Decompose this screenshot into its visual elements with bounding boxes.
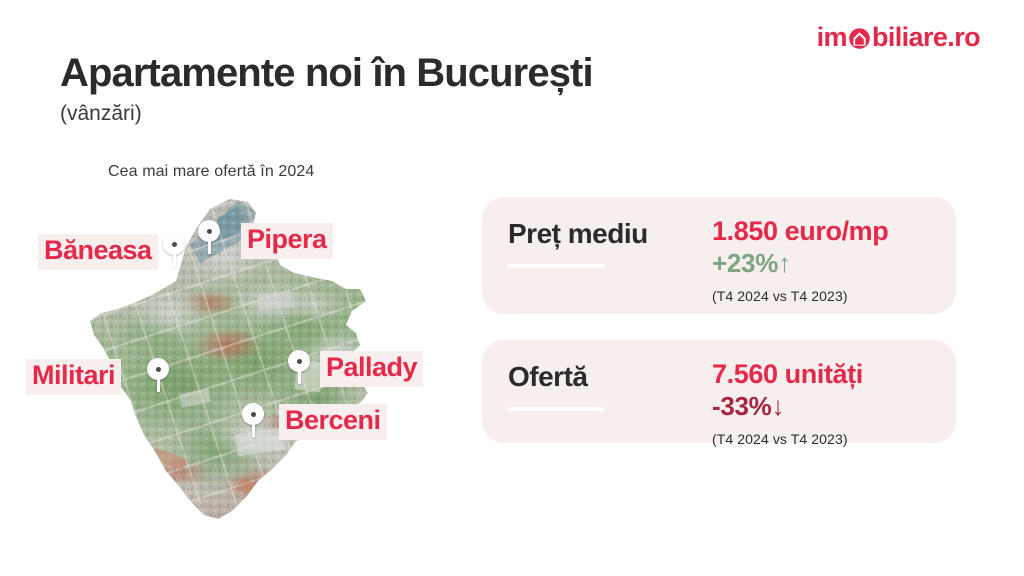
page-title: Apartamente noi în București: [60, 50, 593, 96]
brand-logo-text-part2: biliare.ro: [872, 22, 980, 52]
map-label-berceni: Berceni: [279, 404, 387, 440]
map-region: Băneasa Pipera Militari Pallady Berceni: [60, 185, 460, 525]
stat-card-left: Ofertă: [508, 362, 708, 411]
stat-value: 1.850 euro/mp: [712, 215, 940, 248]
stat-change-up: +23%↑: [712, 248, 940, 279]
map-pin-militari[interactable]: [147, 358, 169, 392]
map-pin-baneasa[interactable]: [163, 233, 185, 267]
stat-change-down: -33%↓: [712, 391, 940, 422]
pin-dot-icon: [251, 412, 256, 417]
pin-stem-icon: [173, 253, 176, 267]
pin-stem-icon: [252, 423, 255, 437]
stat-card-right: 1.850 euro/mp +23%↑ (T4 2024 vs T4 2023): [712, 215, 940, 304]
house-o-icon: [847, 27, 872, 48]
stat-card-right: 7.560 unități -33%↓ (T4 2024 vs T4 2023): [712, 358, 940, 447]
pin-dot-icon: [156, 367, 161, 372]
brand-logo-text-part1: im: [817, 22, 847, 52]
map-pin-pipera[interactable]: [198, 220, 220, 254]
stat-note: (T4 2024 vs T4 2023): [712, 431, 940, 447]
map-pin-berceni[interactable]: [242, 403, 264, 437]
stat-card-pret-mediu: Preț mediu 1.850 euro/mp +23%↑ (T4 2024 …: [482, 197, 956, 314]
pin-stem-icon: [208, 240, 211, 254]
pin-stem-icon: [298, 370, 301, 384]
map-label-pipera: Pipera: [241, 223, 333, 259]
pin-stem-icon: [157, 378, 160, 392]
pin-dot-icon: [207, 229, 212, 234]
brand-logo[interactable]: im biliare.ro: [817, 24, 980, 51]
map-label-baneasa: Băneasa: [38, 234, 158, 270]
stat-value: 7.560 unități: [712, 358, 940, 391]
pin-dot-icon: [172, 242, 177, 247]
map-label-pallady: Pallady: [320, 351, 423, 387]
stat-card-oferta: Ofertă 7.560 unități -33%↓ (T4 2024 vs T…: [482, 340, 956, 443]
stat-card-divider: [508, 407, 604, 411]
stat-note: (T4 2024 vs T4 2023): [712, 288, 940, 304]
map-pin-pallady[interactable]: [288, 350, 310, 384]
stat-card-left: Preț mediu: [508, 219, 708, 268]
stat-card-title: Preț mediu: [508, 219, 708, 250]
map-label-militari: Militari: [26, 359, 121, 395]
brand-logo-text: im biliare.ro: [817, 24, 980, 51]
page-subtitle: (vânzări): [60, 101, 142, 126]
stat-card-divider: [508, 264, 604, 268]
map-caption: Cea mai mare ofertă în 2024: [108, 163, 314, 181]
pin-dot-icon: [297, 359, 302, 364]
stat-card-title: Ofertă: [508, 362, 708, 393]
